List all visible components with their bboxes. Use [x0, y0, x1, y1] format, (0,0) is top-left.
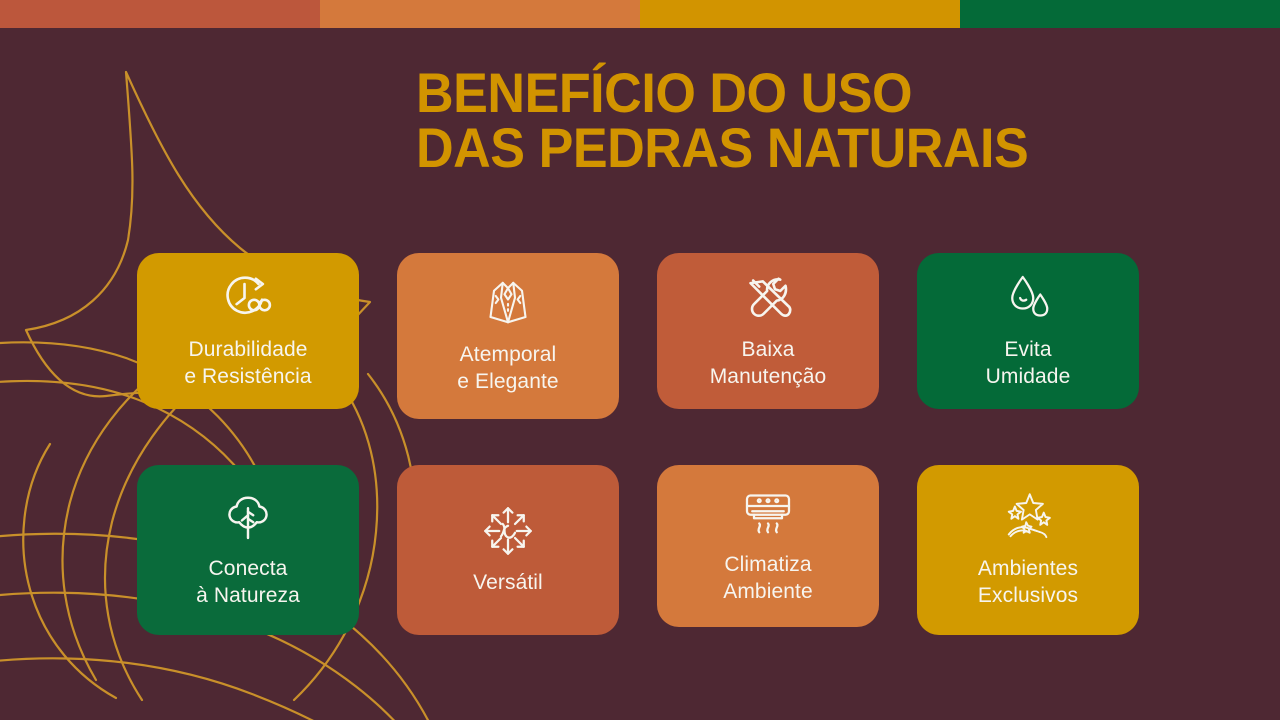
wrench-screwdriver-icon — [739, 269, 797, 327]
benefit-card-label: Durabilidade e Resistência — [184, 337, 311, 391]
clock-infinity-icon — [219, 269, 277, 327]
tree-icon — [219, 488, 277, 546]
page-title: BENEFÍCIO DO USO DAS PEDRAS NATURAIS — [416, 66, 1074, 176]
top-color-bar — [0, 0, 1280, 28]
benefit-card-evita-umidade[interactable]: Evita Umidade — [917, 253, 1139, 409]
benefit-card-durabilidade[interactable]: Durabilidade e Resistência — [137, 253, 359, 409]
topbar-segment-1 — [0, 0, 320, 28]
multi-direction-arrows-icon — [479, 502, 537, 560]
benefit-card-label: Atemporal e Elegante — [457, 342, 558, 396]
topbar-segment-4 — [960, 0, 1280, 28]
benefit-card-label: Conecta à Natureza — [196, 556, 300, 610]
suit-tuxedo-icon — [479, 274, 537, 332]
benefit-card-versatil[interactable]: Versátil — [397, 465, 619, 635]
benefit-card-label: Climatiza Ambiente — [723, 552, 813, 606]
benefit-card-label: Versátil — [473, 570, 543, 597]
topbar-segment-3 — [640, 0, 960, 28]
page-title-line-1: BENEFÍCIO DO USO — [416, 66, 1028, 121]
benefit-card-label: Evita Umidade — [986, 337, 1071, 391]
benefit-card-conecta-natureza[interactable]: Conecta à Natureza — [137, 465, 359, 635]
benefit-card-label: Ambientes Exclusivos — [978, 556, 1078, 610]
water-drops-icon — [999, 269, 1057, 327]
benefit-card-climatiza-ambiente[interactable]: Climatiza Ambiente — [657, 465, 879, 627]
benefit-card-baixa-manutencao[interactable]: Baixa Manutenção — [657, 253, 879, 409]
slide-canvas: BENEFÍCIO DO USO DAS PEDRAS NATURAIS Dur… — [0, 0, 1280, 720]
benefit-card-atemporal[interactable]: Atemporal e Elegante — [397, 253, 619, 419]
benefit-card-label: Baixa Manutenção — [710, 337, 827, 391]
benefit-card-grid: Durabilidade e Resistência Atemporal e E… — [137, 253, 1152, 635]
air-conditioner-icon — [739, 484, 797, 542]
page-title-line-2: DAS PEDRAS NATURAIS — [416, 121, 1028, 176]
benefit-card-ambientes-exclusivos[interactable]: Ambientes Exclusivos — [917, 465, 1139, 635]
hand-stars-icon — [999, 488, 1057, 546]
topbar-segment-2 — [320, 0, 640, 28]
